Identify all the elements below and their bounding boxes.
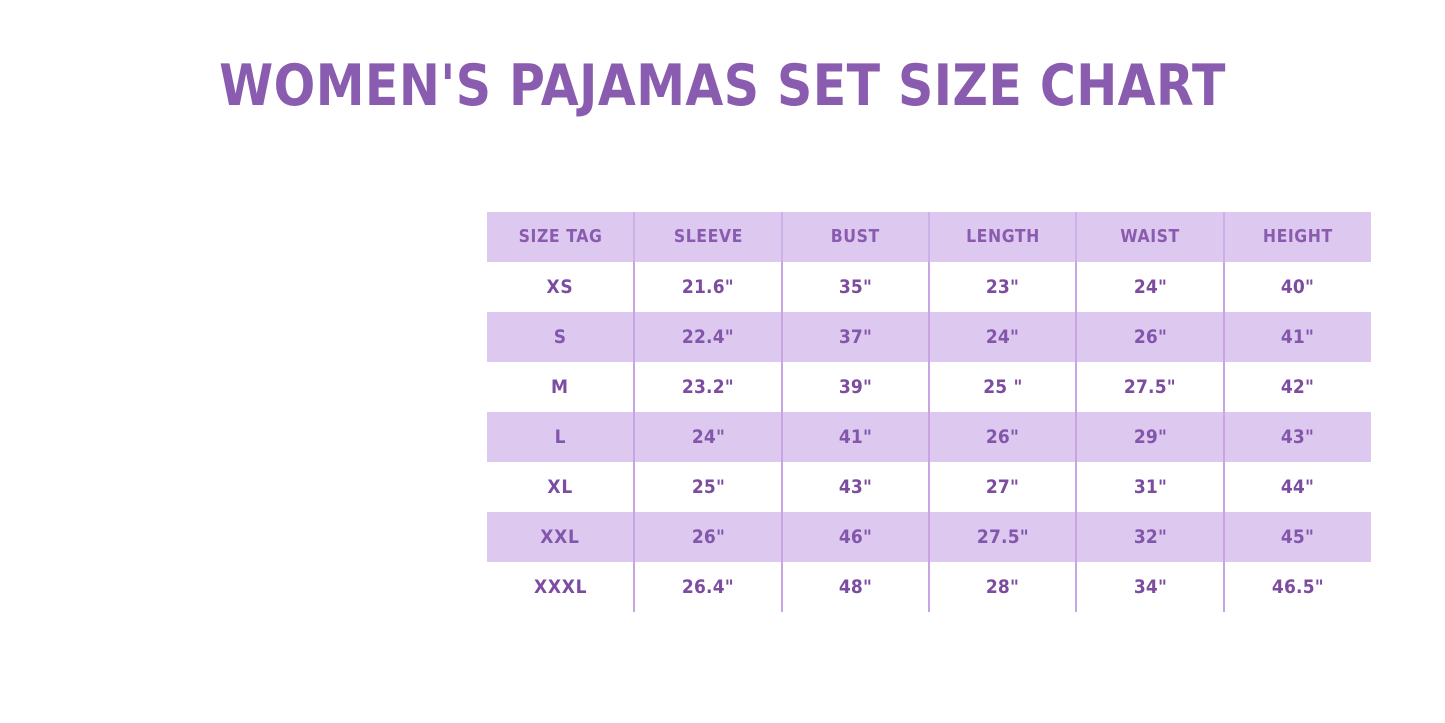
- cell-value: 35": [839, 276, 872, 298]
- size-chart-table: SIZE TAGSLEEVEBUSTLENGTHWAISTHEIGHT XS21…: [487, 212, 1371, 612]
- table-row: S22.4"37"24"26"41": [487, 312, 1371, 362]
- cell-value: 46.5": [1272, 576, 1324, 598]
- cell-height: 45": [1224, 512, 1371, 562]
- cell-length: 27.5": [929, 512, 1076, 562]
- cell-waist: 27.5": [1076, 362, 1223, 412]
- cell-sleeve: 24": [634, 412, 781, 462]
- cell-waist: 24": [1076, 262, 1223, 312]
- cell-value: 40": [1281, 276, 1314, 298]
- cell-value: L: [554, 426, 566, 448]
- cell-sleeve: 21.6": [634, 262, 781, 312]
- cell-sleeve: 26": [634, 512, 781, 562]
- table-row: XL25"43"27"31"44": [487, 462, 1371, 512]
- cell-waist: 34": [1076, 562, 1223, 612]
- cell-waist: 32": [1076, 512, 1223, 562]
- cell-bust: 48": [782, 562, 929, 612]
- cell-value: 42": [1281, 376, 1314, 398]
- table-header-row: SIZE TAGSLEEVEBUSTLENGTHWAISTHEIGHT: [487, 212, 1371, 262]
- cell-value: 48": [839, 576, 872, 598]
- cell-value: 27.5": [977, 526, 1029, 548]
- cell-value: 24": [1133, 276, 1166, 298]
- column-header-label: BUST: [831, 227, 880, 247]
- cell-value: 39": [839, 376, 872, 398]
- cell-sleeve: 25": [634, 462, 781, 512]
- cell-value: 21.6": [682, 276, 734, 298]
- column-header-label: SLEEVE: [673, 227, 742, 247]
- cell-length: 23": [929, 262, 1076, 312]
- cell-waist: 29": [1076, 412, 1223, 462]
- cell-value: S: [554, 326, 567, 348]
- cell-value: XXL: [540, 526, 579, 548]
- cell-value: 25": [691, 476, 724, 498]
- cell-value: 26": [986, 426, 1019, 448]
- cell-size-tag: XXXL: [487, 562, 634, 612]
- column-header-label: HEIGHT: [1263, 227, 1333, 247]
- cell-sleeve: 23.2": [634, 362, 781, 412]
- table-body: XS21.6"35"23"24"40"S22.4"37"24"26"41"M23…: [487, 262, 1371, 612]
- cell-value: 41": [1281, 326, 1314, 348]
- cell-value: XXXL: [533, 576, 586, 598]
- cell-size-tag: L: [487, 412, 634, 462]
- cell-bust: 39": [782, 362, 929, 412]
- cell-value: 23.2": [682, 376, 734, 398]
- cell-size-tag: M: [487, 362, 634, 412]
- column-header-label: WAIST: [1120, 227, 1180, 247]
- cell-value: XL: [547, 476, 573, 498]
- cell-value: 34": [1133, 576, 1166, 598]
- cell-height: 44": [1224, 462, 1371, 512]
- table-row: XS21.6"35"23"24"40": [487, 262, 1371, 312]
- cell-value: 23": [986, 276, 1019, 298]
- cell-waist: 31": [1076, 462, 1223, 512]
- cell-length: 27": [929, 462, 1076, 512]
- table-header: SIZE TAGSLEEVEBUSTLENGTHWAISTHEIGHT: [487, 212, 1371, 262]
- cell-height: 40": [1224, 262, 1371, 312]
- cell-bust: 43": [782, 462, 929, 512]
- size-chart-table-wrapper: SIZE TAGSLEEVEBUSTLENGTHWAISTHEIGHT XS21…: [487, 212, 1371, 612]
- cell-size-tag: XS: [487, 262, 634, 312]
- column-header-height: HEIGHT: [1224, 212, 1371, 262]
- cell-value: 24": [691, 426, 724, 448]
- cell-value: 24": [986, 326, 1019, 348]
- cell-bust: 35": [782, 262, 929, 312]
- cell-length: 26": [929, 412, 1076, 462]
- cell-value: M: [551, 376, 569, 398]
- cell-value: 44": [1281, 476, 1314, 498]
- cell-bust: 46": [782, 512, 929, 562]
- table-row: XXL26"46"27.5"32"45": [487, 512, 1371, 562]
- cell-value: 43": [1281, 426, 1314, 448]
- cell-value: 29": [1133, 426, 1166, 448]
- column-header-waist: WAIST: [1076, 212, 1223, 262]
- cell-value: 27.5": [1124, 376, 1176, 398]
- cell-size-tag: S: [487, 312, 634, 362]
- cell-value: 25 ": [983, 376, 1022, 398]
- cell-value: 22.4": [682, 326, 734, 348]
- cell-value: 28": [986, 576, 1019, 598]
- cell-length: 28": [929, 562, 1076, 612]
- cell-sleeve: 26.4": [634, 562, 781, 612]
- cell-sleeve: 22.4": [634, 312, 781, 362]
- cell-value: 26": [1133, 326, 1166, 348]
- cell-value: 43": [839, 476, 872, 498]
- table-row: XXXL26.4"48"28"34"46.5": [487, 562, 1371, 612]
- cell-value: 27": [986, 476, 1019, 498]
- column-header-size-tag: SIZE TAG: [487, 212, 634, 262]
- cell-size-tag: XXL: [487, 512, 634, 562]
- cell-bust: 41": [782, 412, 929, 462]
- cell-size-tag: XL: [487, 462, 634, 512]
- cell-value: 26.4": [682, 576, 734, 598]
- cell-value: 31": [1133, 476, 1166, 498]
- size-chart-page: WOMEN'S PAJAMAS SET SIZE CHART SIZE TAGS…: [0, 0, 1445, 723]
- cell-value: 37": [839, 326, 872, 348]
- column-header-sleeve: SLEEVE: [634, 212, 781, 262]
- cell-value: 41": [839, 426, 872, 448]
- cell-height: 46.5": [1224, 562, 1371, 612]
- table-row: L24"41"26"29"43": [487, 412, 1371, 462]
- cell-value: 46": [839, 526, 872, 548]
- cell-waist: 26": [1076, 312, 1223, 362]
- column-header-bust: BUST: [782, 212, 929, 262]
- cell-height: 43": [1224, 412, 1371, 462]
- cell-height: 42": [1224, 362, 1371, 412]
- cell-length: 25 ": [929, 362, 1076, 412]
- column-header-length: LENGTH: [929, 212, 1076, 262]
- table-row: M23.2"39"25 "27.5"42": [487, 362, 1371, 412]
- page-title: WOMEN'S PAJAMAS SET SIZE CHART: [101, 55, 1344, 117]
- cell-height: 41": [1224, 312, 1371, 362]
- cell-value: 45": [1281, 526, 1314, 548]
- cell-value: 32": [1133, 526, 1166, 548]
- column-header-label: LENGTH: [966, 227, 1040, 247]
- cell-bust: 37": [782, 312, 929, 362]
- cell-value: 26": [691, 526, 724, 548]
- cell-length: 24": [929, 312, 1076, 362]
- column-header-label: SIZE TAG: [518, 227, 602, 247]
- cell-value: XS: [547, 276, 574, 298]
